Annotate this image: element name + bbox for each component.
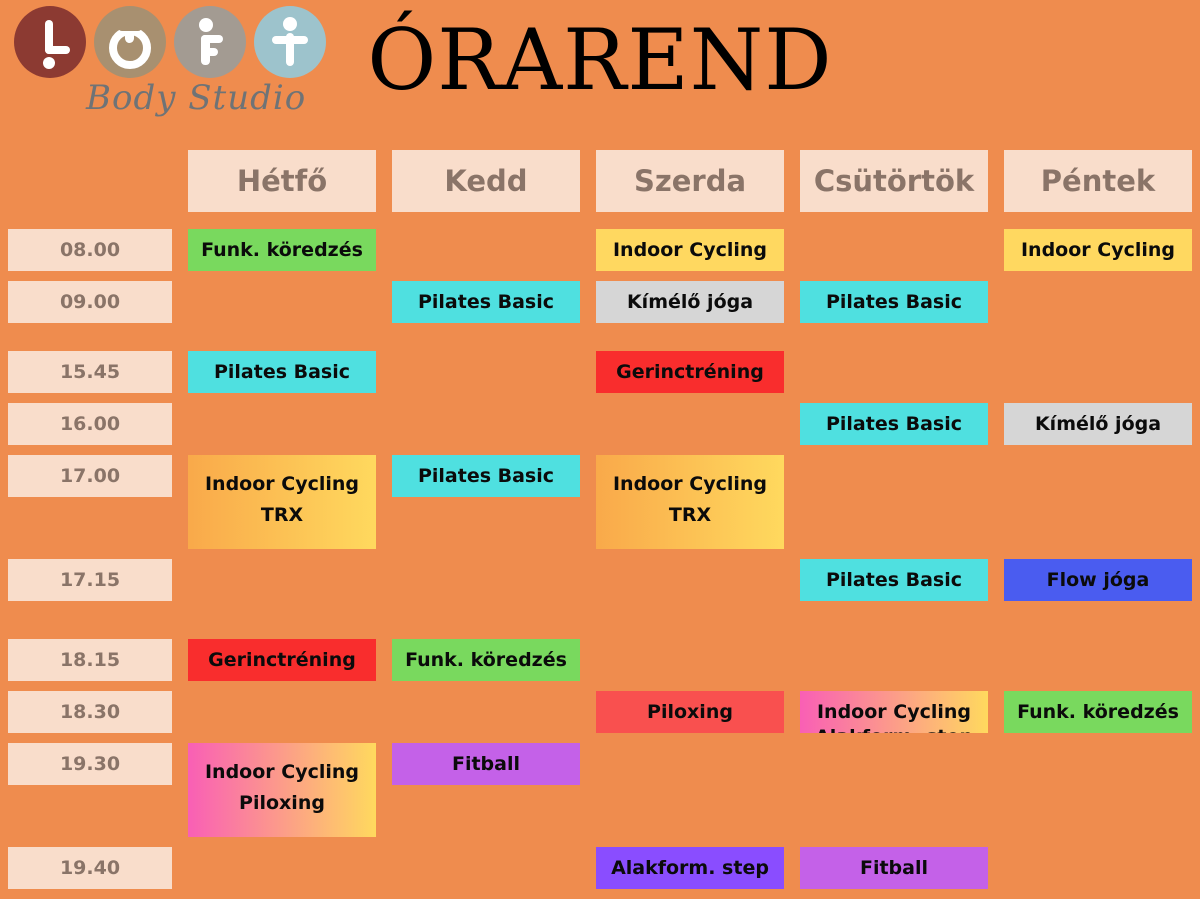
row-gap [0, 889, 1200, 899]
empty-slot [188, 403, 376, 445]
day-header-cell-3: Csütörtök [792, 150, 996, 212]
empty-slot [596, 743, 784, 785]
class-box[interactable]: Piloxing [596, 691, 784, 733]
day-header-cell-4: Péntek [996, 150, 1200, 212]
class-box[interactable]: Pilates Basic [392, 281, 580, 323]
empty-slot [1004, 847, 1192, 889]
class-box[interactable]: Kímélő jóga [1004, 403, 1192, 445]
time-cell: 19.30 [0, 743, 180, 785]
empty-slot [800, 351, 988, 393]
class-cell [792, 229, 996, 271]
class-box[interactable]: Indoor CyclingTRX [188, 455, 376, 549]
class-box[interactable]: Alakform. step [596, 847, 784, 889]
class-box[interactable]: Kímélő jóga [596, 281, 784, 323]
empty-slot [800, 639, 988, 681]
day-label-wednesday: Szerda [596, 150, 784, 212]
time-cell: 09.00 [0, 281, 180, 323]
time-label: 18.30 [8, 691, 172, 733]
class-cell [792, 743, 996, 785]
empty-slot [1004, 455, 1192, 497]
class-box[interactable]: Pilates Basic [392, 455, 580, 497]
class-cell [588, 403, 792, 445]
empty-slot [392, 403, 580, 445]
schedule-row: 19.40Alakform. stepFitball [0, 847, 1200, 889]
empty-slot [392, 351, 580, 393]
empty-slot [188, 559, 376, 601]
class-cell[interactable]: Pilates Basic [180, 351, 384, 393]
class-cell[interactable]: Funk. köredzés [996, 691, 1200, 733]
class-cell[interactable]: Pilates Basic [384, 281, 588, 323]
empty-slot [800, 455, 988, 497]
class-box[interactable]: Funk. köredzés [1004, 691, 1192, 733]
class-cell [384, 691, 588, 733]
empty-slot [596, 403, 784, 445]
day-label-monday: Hétfő [188, 150, 376, 212]
class-cell [384, 229, 588, 271]
day-header-cell-0: Hétfő [180, 150, 384, 212]
time-cell: 18.15 [0, 639, 180, 681]
class-box[interactable]: Indoor CyclingTRX [596, 455, 784, 549]
empty-slot [1004, 639, 1192, 681]
class-cell[interactable]: Gerinctréning [180, 639, 384, 681]
empty-slot [800, 229, 988, 271]
schedule-row: 09.00Pilates BasicKímélő jógaPilates Bas… [0, 281, 1200, 323]
day-label-thursday: Csütörtök [800, 150, 988, 212]
time-cell: 19.40 [0, 847, 180, 889]
class-cell[interactable]: Indoor Cycling [588, 229, 792, 271]
class-box[interactable]: Flow jóga [1004, 559, 1192, 601]
class-cell[interactable]: Funk. köredzés [180, 229, 384, 271]
class-box[interactable]: Funk. köredzés [392, 639, 580, 681]
class-box[interactable]: Pilates Basic [800, 403, 988, 445]
class-box[interactable]: Indoor Cycling [1004, 229, 1192, 271]
schedule-row: 19.30Indoor CyclingPiloxingFitball [0, 743, 1200, 837]
time-label: 19.30 [8, 743, 172, 785]
class-cell[interactable]: Kímélő jóga [588, 281, 792, 323]
day-label-friday: Péntek [1004, 150, 1192, 212]
class-cell[interactable]: Kímélő jóga [996, 403, 1200, 445]
time-label: 17.00 [8, 455, 172, 497]
time-cell: 18.30 [0, 691, 180, 733]
schedule-row: 16.00Pilates BasicKímélő jóga [0, 403, 1200, 445]
row-gap [0, 681, 1200, 691]
class-cell[interactable]: Indoor CyclingAlakform. step [792, 691, 996, 733]
time-label: 18.15 [8, 639, 172, 681]
time-cell: 15.45 [0, 351, 180, 393]
class-box[interactable]: Indoor Cycling [596, 229, 784, 271]
empty-slot [392, 691, 580, 733]
day-label-tuesday: Kedd [392, 150, 580, 212]
class-cell[interactable]: Indoor CyclingTRX [588, 455, 792, 549]
time-cell: 17.15 [0, 559, 180, 601]
class-cell [996, 281, 1200, 323]
day-header-row: Hétfő Kedd Szerda Csütörtök Péntek [0, 150, 1200, 212]
schedule-row: 15.45Pilates BasicGerinctréning [0, 351, 1200, 393]
class-cell[interactable]: Piloxing [588, 691, 792, 733]
page-header: Body Studio ÓRAREND [0, 0, 1200, 150]
page-title: ÓRAREND [0, 10, 1200, 110]
class-cell[interactable]: Gerinctréning [588, 351, 792, 393]
time-cell: 16.00 [0, 403, 180, 445]
class-cell[interactable]: Pilates Basic [792, 281, 996, 323]
class-cell[interactable]: Funk. köredzés [384, 639, 588, 681]
schedule-row: 18.15GerinctréningFunk. köredzés [0, 639, 1200, 681]
empty-slot [392, 847, 580, 889]
class-cell [996, 351, 1200, 393]
row-gap [0, 549, 1200, 559]
class-cell[interactable]: Indoor CyclingPiloxing [180, 743, 384, 837]
class-cell [180, 281, 384, 323]
empty-slot [1004, 281, 1192, 323]
schedule-row: 18.30PiloxingIndoor CyclingAlakform. ste… [0, 691, 1200, 733]
class-box[interactable]: Fitball [392, 743, 580, 785]
row-gap [0, 837, 1200, 847]
class-cell[interactable]: Fitball [792, 847, 996, 889]
empty-slot [596, 639, 784, 681]
schedule-row: 08.00Funk. köredzésIndoor CyclingIndoor … [0, 229, 1200, 271]
class-cell [588, 743, 792, 785]
class-cell[interactable]: Alakform. step [588, 847, 792, 889]
class-cell [996, 639, 1200, 681]
class-cell [792, 351, 996, 393]
time-cell: 08.00 [0, 229, 180, 271]
class-box[interactable]: Indoor CyclingAlakform. step [800, 691, 988, 733]
class-cell [180, 847, 384, 889]
row-gap [0, 323, 1200, 351]
row-gap [0, 271, 1200, 281]
time-label: 09.00 [8, 281, 172, 323]
row-gap [0, 601, 1200, 639]
class-cell[interactable]: Pilates Basic [384, 455, 588, 497]
class-cell [180, 559, 384, 601]
schedule-grid: Hétfő Kedd Szerda Csütörtök Péntek 08.00… [0, 150, 1200, 899]
class-cell[interactable]: Flow jóga [996, 559, 1200, 601]
class-box[interactable]: Funk. köredzés [188, 229, 376, 271]
class-cell [180, 403, 384, 445]
empty-slot [392, 229, 580, 271]
day-header-cell-1: Kedd [384, 150, 588, 212]
class-box[interactable]: Gerinctréning [188, 639, 376, 681]
time-label: 16.00 [8, 403, 172, 445]
class-cell[interactable]: Fitball [384, 743, 588, 785]
time-label: 15.45 [8, 351, 172, 393]
class-cell [996, 743, 1200, 785]
row-gap [0, 733, 1200, 743]
empty-slot [800, 743, 988, 785]
class-cell [588, 639, 792, 681]
class-cell [384, 847, 588, 889]
class-cell [180, 691, 384, 733]
empty-slot [596, 559, 784, 601]
row-gap [0, 393, 1200, 403]
schedule-row: 17.15Pilates BasicFlow jóga [0, 559, 1200, 601]
row-gap [0, 445, 1200, 455]
class-cell [792, 639, 996, 681]
class-cell [588, 559, 792, 601]
day-header-cell-2: Szerda [588, 150, 792, 212]
empty-slot [1004, 743, 1192, 785]
empty-slot [392, 559, 580, 601]
class-cell [384, 559, 588, 601]
class-cell[interactable]: Indoor Cycling [996, 229, 1200, 271]
schedule-row: 17.00Indoor CyclingTRXPilates BasicIndoo… [0, 455, 1200, 549]
time-label: 19.40 [8, 847, 172, 889]
class-cell [792, 455, 996, 497]
class-box[interactable]: Pilates Basic [188, 351, 376, 393]
empty-slot [188, 847, 376, 889]
class-cell [384, 351, 588, 393]
schedule-rows: 08.00Funk. köredzésIndoor CyclingIndoor … [0, 229, 1200, 899]
time-label: 17.15 [8, 559, 172, 601]
class-cell[interactable]: Pilates Basic [792, 403, 996, 445]
class-box[interactable]: Pilates Basic [800, 559, 988, 601]
class-box[interactable]: Indoor CyclingPiloxing [188, 743, 376, 837]
time-cell: 17.00 [0, 455, 180, 497]
time-label: 08.00 [8, 229, 172, 271]
class-cell[interactable]: Pilates Basic [792, 559, 996, 601]
class-box[interactable]: Pilates Basic [800, 281, 988, 323]
empty-slot [188, 281, 376, 323]
class-cell[interactable]: Indoor CyclingTRX [180, 455, 384, 549]
class-box[interactable]: Gerinctréning [596, 351, 784, 393]
empty-slot [1004, 351, 1192, 393]
empty-slot [188, 691, 376, 733]
class-cell [996, 847, 1200, 889]
class-cell [384, 403, 588, 445]
class-box[interactable]: Fitball [800, 847, 988, 889]
class-cell [996, 455, 1200, 497]
